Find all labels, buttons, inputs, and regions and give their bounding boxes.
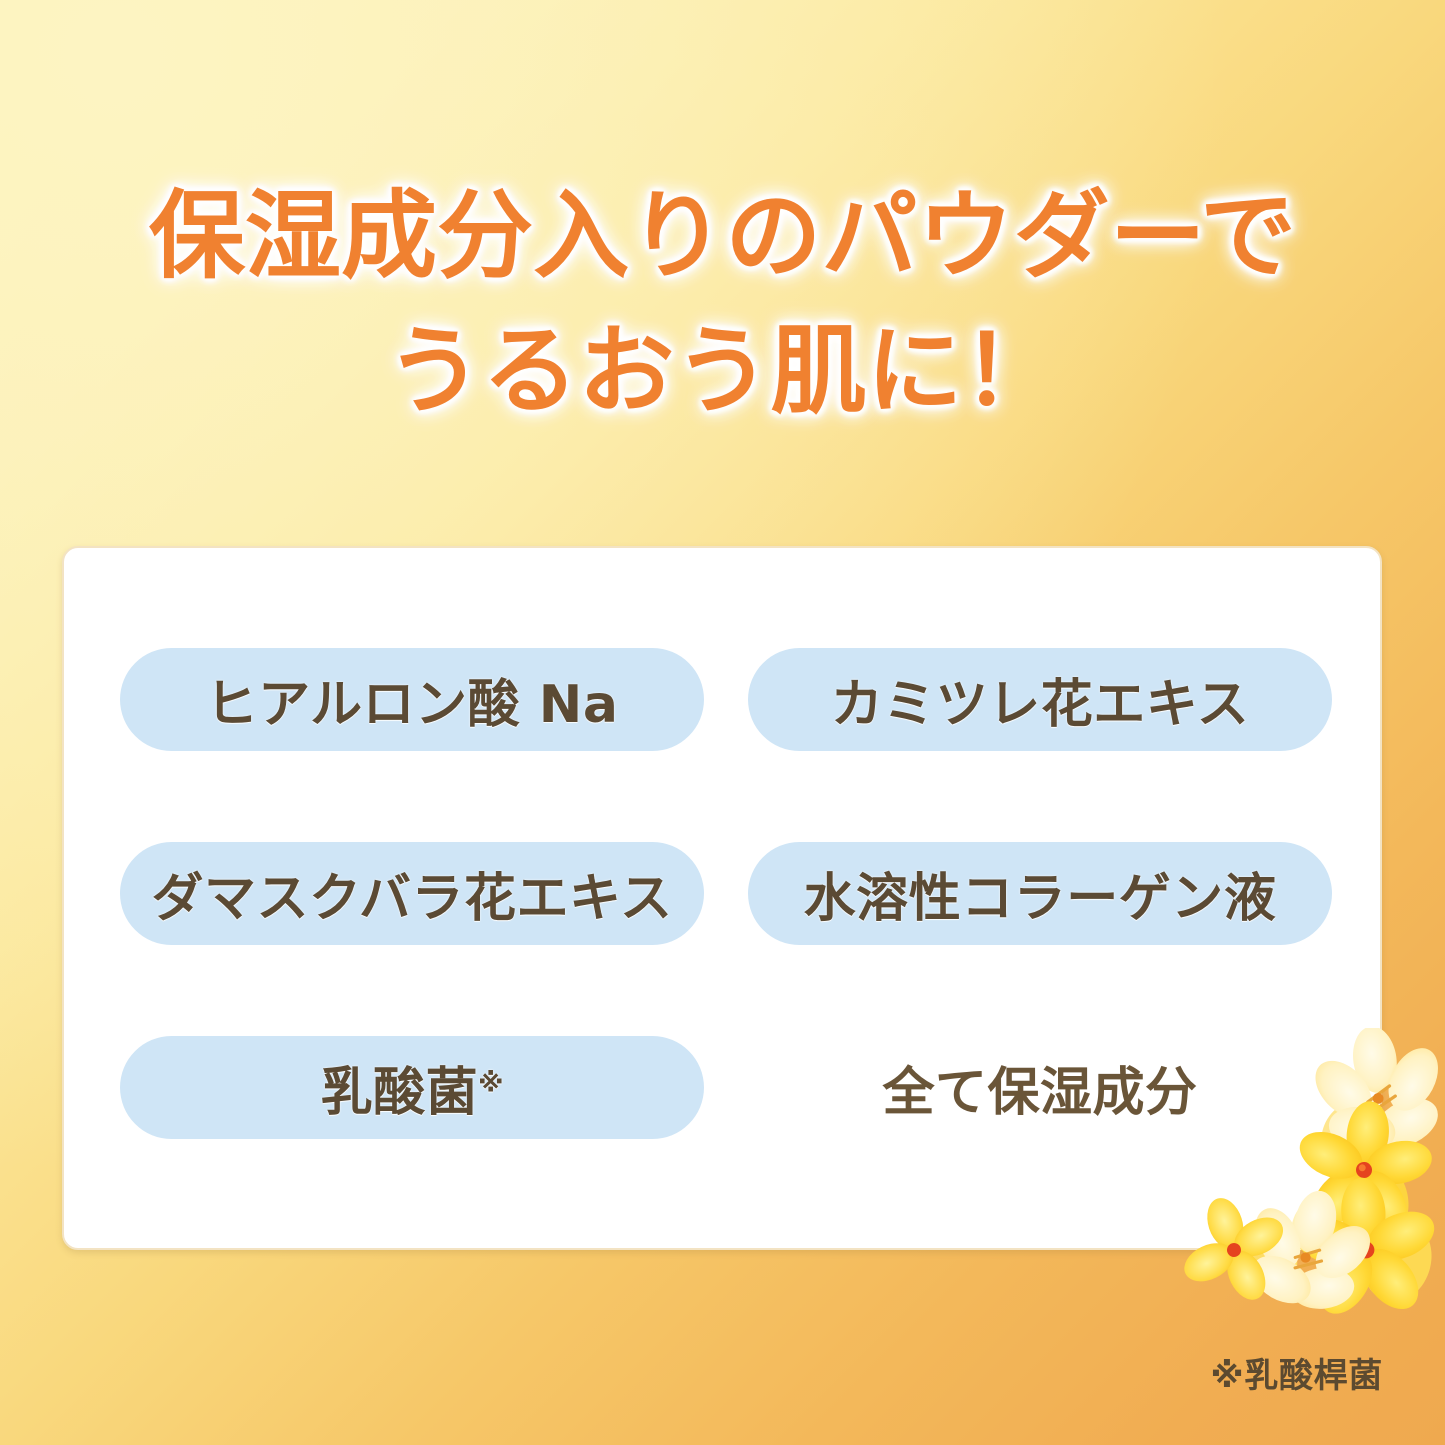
headline-line-1: 保湿成分入りのパウダーで — [0, 178, 1445, 295]
ingredient-label: 乳酸菌※ — [321, 1050, 504, 1125]
ingredient-pill-water-soluble-collagen: 水溶性コラーゲン液 — [748, 842, 1332, 945]
page-title: 保湿成分入りのパウダーで うるおう肌に！ — [0, 178, 1445, 430]
list-item: 水溶性コラーゲン液 — [748, 842, 1332, 945]
footnote-text: ※乳酸桿菌 — [1211, 1348, 1383, 1397]
ingredients-card: ヒアルロン酸 Na カミツレ花エキス ダマスクバラ花エキス 水溶性コラーゲン液 — [62, 546, 1382, 1250]
list-item: ダマスクバラ花エキス — [120, 842, 704, 945]
ingredient-label: ダマスクバラ花エキス — [151, 856, 672, 931]
headline-line-2: うるおう肌に！ — [0, 313, 1445, 430]
ingredient-pill-damask-rose-flower-extract: ダマスクバラ花エキス — [120, 842, 704, 945]
ingredient-pill-hyaluronic-acid-na: ヒアルロン酸 Na — [120, 648, 704, 751]
ingredient-pill-chamomile-flower-extract: カミツレ花エキス — [748, 648, 1332, 751]
list-item: 乳酸菌※ — [120, 1036, 704, 1139]
ingredient-label: カミツレ花エキス — [831, 662, 1250, 737]
ingredient-label: 水溶性コラーゲン液 — [804, 856, 1277, 931]
all-moisturizing-note: 全て保湿成分 — [882, 1050, 1197, 1125]
ingredient-label-text: 乳酸菌 — [321, 1063, 479, 1123]
ingredient-label: ヒアルロン酸 Na — [206, 662, 619, 737]
list-item: ヒアルロン酸 Na — [120, 648, 704, 751]
ingredient-pill-lactic-acid-bacteria: 乳酸菌※ — [120, 1036, 704, 1139]
list-item: カミツレ花エキス — [748, 648, 1332, 751]
footnote-marker-icon: ※ — [478, 1069, 503, 1099]
poster-canvas: 保湿成分入りのパウダーで うるおう肌に！ ヒアルロン酸 Na カミツレ花エキス … — [0, 0, 1445, 1445]
list-item: 全て保湿成分 — [748, 1036, 1332, 1139]
ingredients-grid: ヒアルロン酸 Na カミツレ花エキス ダマスクバラ花エキス 水溶性コラーゲン液 — [120, 648, 1332, 1139]
